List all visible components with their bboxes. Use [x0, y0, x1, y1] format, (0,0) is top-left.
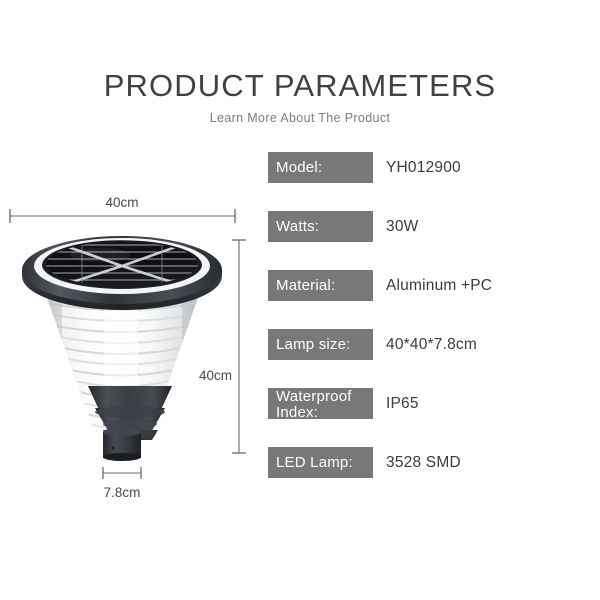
spec-label-lamp-size: Lamp size: — [268, 329, 373, 360]
spec-row-led-lamp: LED Lamp: 3528 SMD — [268, 447, 568, 506]
product-parameters-page: PRODUCT PARAMETERS Learn More About The … — [0, 0, 600, 600]
spec-row-watts: Watts: 30W — [268, 211, 568, 270]
spec-label-waterproof-index: Waterproof Index: — [268, 388, 373, 419]
spec-value-waterproof-index: IP65 — [386, 388, 419, 419]
dimension-height-label: 40cm — [199, 368, 232, 383]
dimension-base-label: 7.8cm — [104, 485, 141, 500]
spec-table: Model: YH012900 Watts: 30W Material: Alu… — [268, 152, 568, 506]
lamp-body — [22, 236, 222, 461]
spec-value-model: YH012900 — [386, 152, 461, 183]
spec-value-lamp-size: 40*40*7.8cm — [386, 329, 477, 360]
dimension-width-40cm: 40cm — [10, 195, 235, 223]
product-illustration: 40cm — [0, 0, 260, 600]
spec-label-model: Model: — [268, 152, 373, 183]
spec-label-watts: Watts: — [268, 211, 373, 242]
spec-row-model: Model: YH012900 — [268, 152, 568, 211]
spec-value-led-lamp: 3528 SMD — [386, 447, 461, 478]
lamp-drawing: 40cm — [0, 0, 260, 600]
spec-label-led-lamp: LED Lamp: — [268, 447, 373, 478]
spec-value-material: Aluminum +PC — [386, 270, 492, 301]
spec-value-watts: 30W — [386, 211, 418, 242]
spec-row-lamp-size: Lamp size: 40*40*7.8cm — [268, 329, 568, 388]
dimension-base-78cm: 7.8cm — [103, 467, 141, 500]
spec-label-material: Material: — [268, 270, 373, 301]
spec-row-waterproof-index: Waterproof Index: IP65 — [268, 388, 568, 447]
lamp-stem — [103, 428, 141, 462]
spec-row-material: Material: Aluminum +PC — [268, 270, 568, 329]
dimension-width-label: 40cm — [105, 195, 138, 210]
